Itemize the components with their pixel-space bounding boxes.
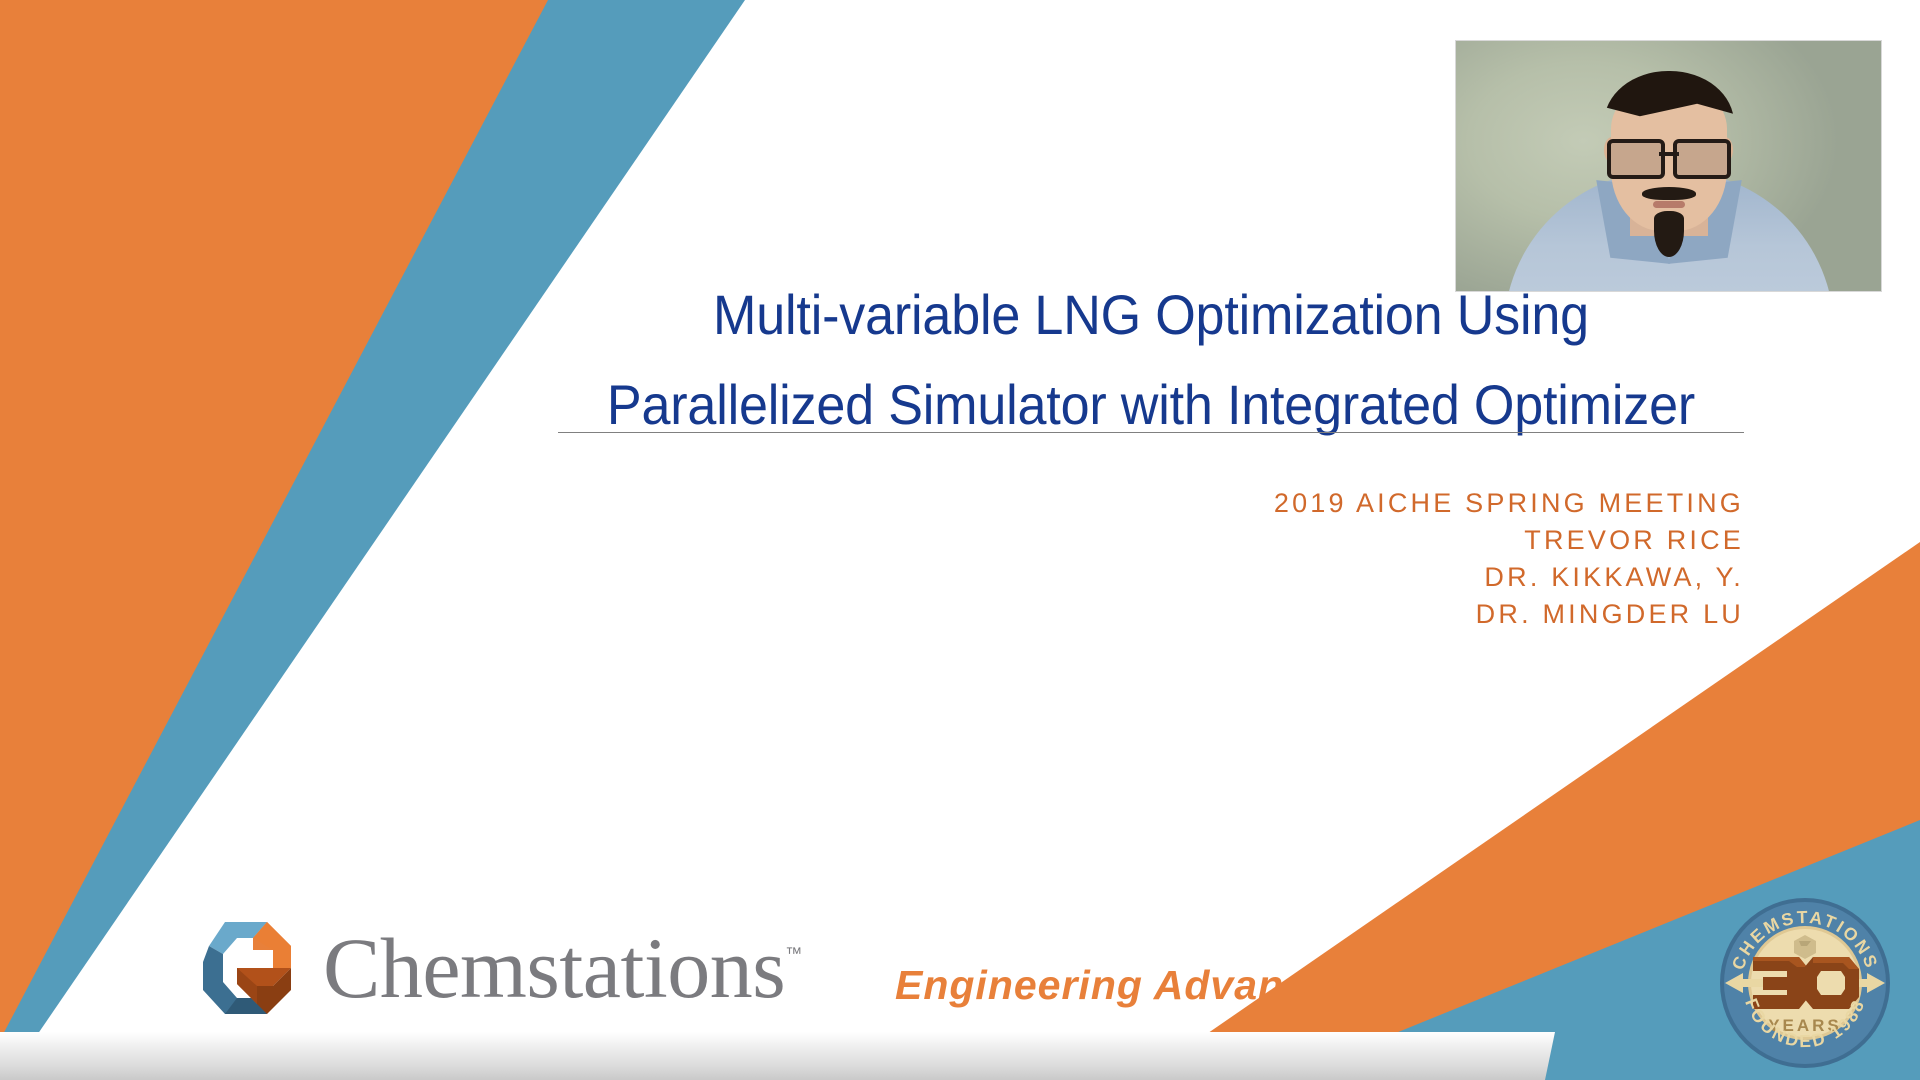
title-line-2: Parallelized Simulator with Integrated O…: [600, 360, 1703, 450]
chemstations-logo: Chemstations™: [195, 912, 802, 1024]
glasses-lens-right: [1673, 139, 1731, 179]
thirty-years-badge: YEARS CHEMSTATIONS FOUNDED 1988: [1717, 895, 1893, 1071]
chemstations-hexagon-icon: [195, 912, 303, 1024]
slide-subtitle: 2019 AICHE SPRING MEETING TREVOR RICE DR…: [700, 485, 1744, 633]
trademark-symbol: ™: [785, 944, 802, 963]
slide-title: Multi-variable LNG Optimization Using Pa…: [558, 270, 1744, 450]
chemstations-wordmark: Chemstations™: [323, 925, 802, 1011]
presenter-mouth: [1653, 201, 1685, 208]
presenter-glasses-icon: [1607, 139, 1731, 173]
subtitle-line-author-2: DR. KIKKAWA, Y.: [700, 559, 1744, 596]
presentation-slide: Multi-variable LNG Optimization Using Pa…: [0, 0, 1920, 1080]
brand-tagline: Engineering Advanced: [895, 962, 1358, 1009]
glasses-lens-left: [1607, 139, 1665, 179]
title-underline-rule: [558, 432, 1744, 433]
subtitle-line-event: 2019 AICHE SPRING MEETING: [700, 485, 1744, 522]
wordmark-text: Chemstations: [323, 920, 785, 1016]
subtitle-line-author-1: TREVOR RICE: [700, 522, 1744, 559]
presenter-mustache: [1642, 187, 1696, 200]
subtitle-line-author-3: DR. MINGDER LU: [700, 596, 1744, 633]
presenter-webcam-overlay[interactable]: [1455, 40, 1882, 292]
